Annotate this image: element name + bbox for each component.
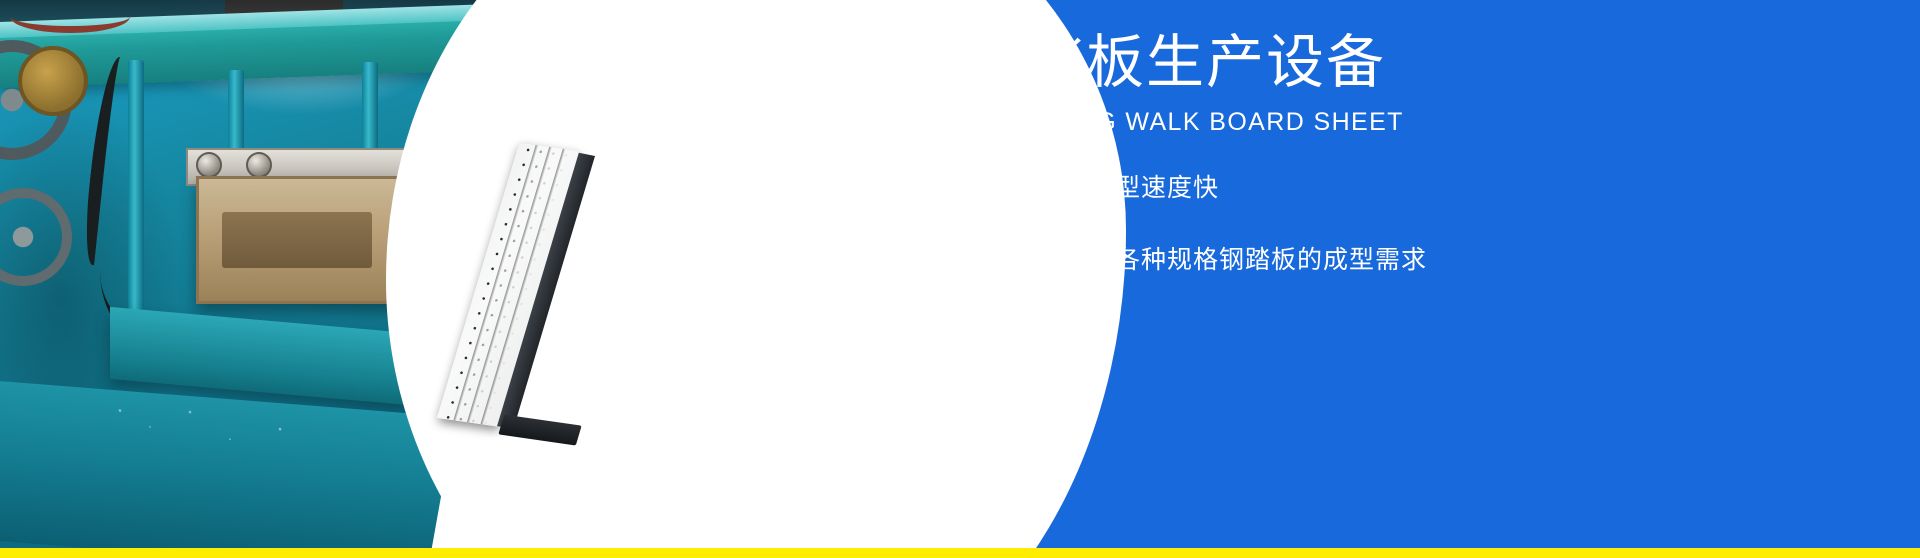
- square-bullet-icon: [788, 176, 809, 197]
- learn-more-link[interactable]: 点击了解 >>: [828, 330, 992, 367]
- banner-content: 脚手架钢踏板生产设备 LINE FOR SCAFFOLDING WALK BOA…: [786, 0, 1886, 558]
- learn-more-label: 点击了解: [828, 330, 940, 367]
- machine-gear: [18, 46, 88, 116]
- feature-text: 稳定性好，精密度高，成型速度快: [829, 168, 1219, 204]
- machine-bolt: [246, 152, 272, 178]
- page-title: 脚手架钢踏板生产设备: [786, 33, 1386, 94]
- list-item: 按照客户需求定制，满足各种规格钢踏板的成型需求: [788, 240, 1848, 276]
- feature-list: 稳定性好，精密度高，成型速度快 按照客户需求定制，满足各种规格钢踏板的成型需求: [788, 168, 1848, 312]
- double-chevron-right-icon: >>: [954, 333, 992, 364]
- list-item: 稳定性好，精密度高，成型速度快: [788, 168, 1848, 204]
- product-photo: [500, 148, 710, 438]
- bottom-accent-strip: [0, 548, 1920, 558]
- page-subtitle: LINE FOR SCAFFOLDING WALK BOARD SHEET: [789, 108, 1404, 137]
- square-bullet-icon: [788, 248, 809, 269]
- promo-banner: 脚手架钢踏板生产设备 LINE FOR SCAFFOLDING WALK BOA…: [0, 0, 1920, 558]
- machine-die-cavity: [222, 212, 372, 268]
- machine-bolt: [196, 152, 222, 178]
- feature-text: 按照客户需求定制，满足各种规格钢踏板的成型需求: [829, 240, 1427, 276]
- machine-wire: [10, 0, 130, 33]
